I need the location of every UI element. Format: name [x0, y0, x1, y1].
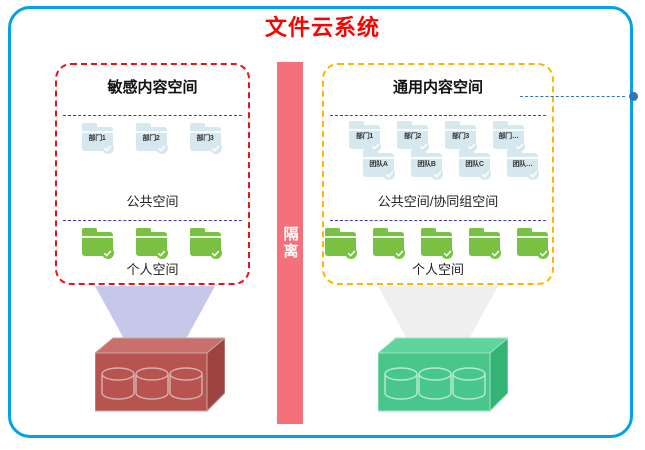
folder-lip — [469, 236, 500, 238]
folder-icon[interactable] — [373, 228, 407, 258]
folder-icon[interactable]: 部门2 — [136, 123, 170, 153]
folder-icon[interactable]: 团队B — [411, 149, 445, 179]
page-title: 文件云系统 — [0, 14, 645, 42]
general-public-zone-label: 公共空间/协同组空间 — [324, 193, 552, 211]
check-icon — [156, 142, 168, 154]
folder-icon[interactable]: 部门3 — [190, 123, 224, 153]
folder-lip — [82, 131, 113, 133]
check-icon — [102, 142, 114, 154]
sensitive-space-heading: 敏感内容空间 — [57, 78, 248, 98]
folder-lip — [459, 157, 490, 159]
zone-separator-top — [63, 115, 242, 116]
folder-icon[interactable]: 部门1 — [82, 123, 116, 153]
folder-lip — [373, 236, 404, 238]
folder-icon[interactable] — [517, 228, 551, 258]
check-icon — [210, 247, 222, 259]
folder-lip — [325, 236, 356, 238]
folder-icon[interactable]: 团队… — [507, 149, 541, 179]
folder-lip — [136, 236, 167, 238]
zone-separator-top — [330, 115, 546, 116]
folder-lip — [136, 131, 167, 133]
general-space-heading: 通用内容空间 — [324, 78, 552, 98]
folder-lip — [397, 129, 428, 131]
check-icon — [489, 247, 501, 259]
sensitive-personal-folder-row — [57, 228, 248, 258]
folder-lip — [507, 157, 538, 159]
check-icon — [527, 168, 539, 180]
check-icon — [102, 247, 114, 259]
folder-icon[interactable]: 部门2 — [397, 121, 431, 151]
general-department-folder-row: 部门1部门2部门3部门… — [324, 121, 552, 151]
sensitive-public-zone-label: 公共空间 — [57, 193, 248, 211]
check-icon — [210, 142, 222, 154]
isolation-label: 隔离 — [282, 226, 299, 260]
folder-icon[interactable] — [190, 228, 224, 258]
folder-icon[interactable]: 团队C — [459, 149, 493, 179]
folder-icon[interactable] — [136, 228, 170, 258]
callout-endpoint-dot — [629, 92, 638, 101]
folder-lip — [411, 157, 442, 159]
check-icon — [156, 247, 168, 259]
callout-leader-line — [520, 96, 625, 97]
sensitive-storage-box — [95, 335, 225, 417]
check-icon — [537, 247, 549, 259]
folder-lip — [421, 236, 452, 238]
check-icon — [479, 168, 491, 180]
folder-lip — [190, 236, 221, 238]
isolation-barrier: 隔离 — [277, 62, 303, 424]
check-icon — [345, 247, 357, 259]
folder-icon[interactable]: 团队A — [363, 149, 397, 179]
general-personal-zone-label: 个人空间 — [324, 261, 552, 279]
general-storage-box — [378, 335, 508, 417]
diagram-canvas: 文件云系统 — [0, 0, 645, 450]
folder-lip — [493, 129, 524, 131]
check-icon — [431, 168, 443, 180]
folder-lip — [82, 236, 113, 238]
sensitive-content-space-panel[interactable]: 敏感内容空间 部门1部门2部门3 公共空间 个人空间 — [55, 63, 250, 285]
folder-lip — [517, 236, 548, 238]
folder-lip — [445, 129, 476, 131]
folder-lip — [349, 129, 380, 131]
folder-lip — [363, 157, 394, 159]
folder-icon[interactable]: 部门3 — [445, 121, 479, 151]
general-personal-folder-row — [324, 228, 552, 258]
folder-icon[interactable]: 部门… — [493, 121, 527, 151]
check-icon — [383, 168, 395, 180]
sensitive-department-folder-row: 部门1部门2部门3 — [57, 123, 248, 153]
zone-separator-bottom — [63, 220, 242, 221]
check-icon — [393, 247, 405, 259]
folder-icon[interactable] — [421, 228, 455, 258]
folder-icon[interactable] — [469, 228, 503, 258]
folder-icon[interactable] — [82, 228, 116, 258]
folder-icon[interactable]: 部门1 — [349, 121, 383, 151]
zone-separator-bottom — [330, 220, 546, 221]
folder-icon[interactable] — [325, 228, 359, 258]
general-team-folder-row: 团队A团队B团队C团队… — [324, 149, 552, 179]
folder-lip — [190, 131, 221, 133]
sensitive-personal-zone-label: 个人空间 — [57, 261, 248, 279]
check-icon — [441, 247, 453, 259]
